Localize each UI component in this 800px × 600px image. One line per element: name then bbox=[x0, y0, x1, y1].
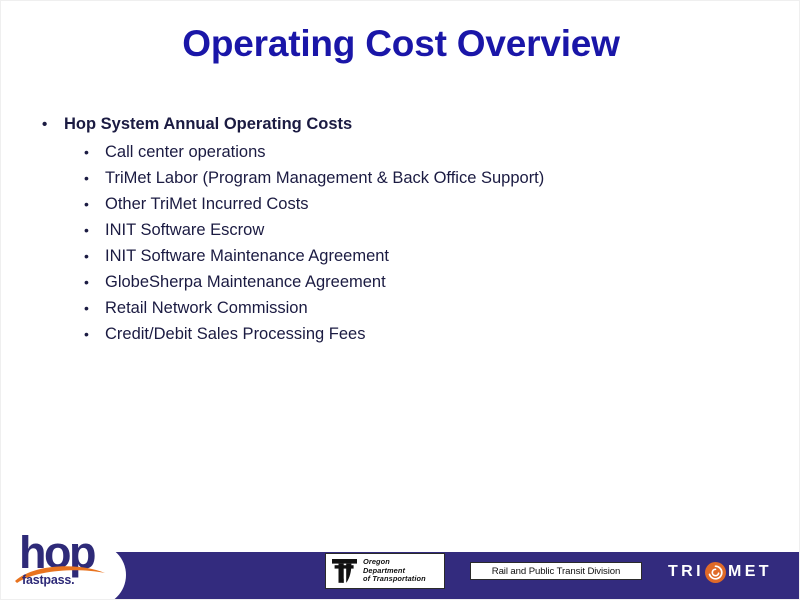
bullet-list: • Hop System Annual Operating Costs • Ca… bbox=[1, 111, 761, 347]
list-item-label: Other TriMet Incurred Costs bbox=[105, 191, 761, 217]
presentation-slide: Operating Cost Overview • Hop System Ann… bbox=[0, 0, 800, 600]
bullet-marker-icon: • bbox=[84, 217, 105, 243]
division-label-box: Rail and Public Transit Division bbox=[470, 562, 642, 580]
page-title: Operating Cost Overview bbox=[1, 22, 800, 66]
list-item: • Retail Network Commission bbox=[1, 295, 761, 321]
odot-wordmark: Oregon Department of Transportation bbox=[363, 558, 444, 584]
list-item: • Credit/Debit Sales Processing Fees bbox=[1, 321, 761, 347]
bullet-marker-icon: • bbox=[84, 165, 105, 191]
bullet-marker-icon: • bbox=[84, 243, 105, 269]
hop-fastpass-logo: hop fastpass. bbox=[13, 530, 133, 592]
list-item: • INIT Software Maintenance Agreement bbox=[1, 243, 761, 269]
list-item-label: INIT Software Maintenance Agreement bbox=[105, 243, 761, 269]
list-item-label: TriMet Labor (Program Management & Back … bbox=[105, 165, 761, 191]
odot-mark-icon bbox=[330, 556, 360, 586]
list-item-label: Retail Network Commission bbox=[105, 295, 761, 321]
list-item: • Call center operations bbox=[1, 139, 761, 165]
list-item-label: Hop System Annual Operating Costs bbox=[64, 111, 761, 138]
list-item: • TriMet Labor (Program Management & Bac… bbox=[1, 165, 761, 191]
trimet-logo: TRI MET bbox=[668, 560, 772, 584]
list-item: • GlobeSherpa Maintenance Agreement bbox=[1, 269, 761, 295]
trimet-word-right: MET bbox=[728, 564, 772, 580]
bullet-marker-icon: • bbox=[84, 191, 105, 217]
list-item-label: GlobeSherpa Maintenance Agreement bbox=[105, 269, 761, 295]
trimet-word-left: TRI bbox=[668, 564, 704, 580]
list-item: • INIT Software Escrow bbox=[1, 217, 761, 243]
list-item: • Hop System Annual Operating Costs bbox=[1, 111, 761, 138]
oregon-dot-logo: Oregon Department of Transportation bbox=[325, 553, 445, 589]
odot-line-3: of Transportation bbox=[363, 575, 444, 584]
bullet-marker-icon: • bbox=[84, 139, 105, 165]
hop-tagline: fastpass. bbox=[22, 573, 74, 587]
list-item-label: INIT Software Escrow bbox=[105, 217, 761, 243]
trimet-orb-icon bbox=[705, 562, 726, 583]
list-item-label: Call center operations bbox=[105, 139, 761, 165]
list-item: • Other TriMet Incurred Costs bbox=[1, 191, 761, 217]
bullet-marker-icon: • bbox=[84, 295, 105, 321]
bullet-marker-icon: • bbox=[84, 321, 105, 347]
bullet-marker-icon: • bbox=[42, 111, 64, 138]
bullet-marker-icon: • bbox=[84, 269, 105, 295]
division-label: Rail and Public Transit Division bbox=[492, 566, 621, 577]
list-item-label: Credit/Debit Sales Processing Fees bbox=[105, 321, 761, 347]
